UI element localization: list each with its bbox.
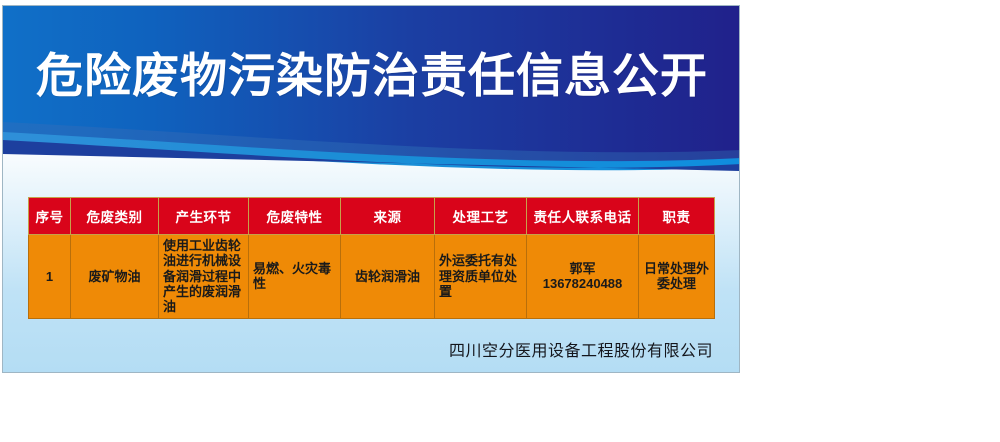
contact-person-name: 郭军 [531, 261, 634, 276]
column-header-source: 来源 [341, 198, 435, 235]
cell-duty: 日常处理外委处理 [639, 235, 715, 319]
company-name: 四川空分医用设备工程股份有限公司 [449, 337, 713, 361]
table-row: 1 废矿物油 使用工业齿轮油进行机械设备润滑过程中产生的废润滑油 易燃、火灾毒性… [29, 235, 715, 319]
column-header-process: 处理工艺 [435, 198, 527, 235]
hazardous-waste-table: 序号 危废类别 产生环节 危废特性 来源 处理工艺 责任人联系电话 职责 1 废… [28, 197, 715, 319]
column-header-contact: 责任人联系电话 [527, 198, 639, 235]
cell-contact: 郭军 13678240488 [527, 235, 639, 319]
cell-stage: 使用工业齿轮油进行机械设备润滑过程中产生的废润滑油 [159, 235, 249, 319]
column-header-index: 序号 [29, 198, 71, 235]
cell-process: 外运委托有处理资质单位处置 [435, 235, 527, 319]
table-header-row: 序号 危废类别 产生环节 危废特性 来源 处理工艺 责任人联系电话 职责 [29, 198, 715, 235]
cell-source: 齿轮润滑油 [341, 235, 435, 319]
cell-category: 废矿物油 [71, 235, 159, 319]
column-header-stage: 产生环节 [159, 198, 249, 235]
contact-phone-number: 13678240488 [531, 276, 634, 291]
column-header-category: 危废类别 [71, 198, 159, 235]
page-title: 危险废物污染防治责任信息公开 [3, 53, 740, 100]
banner-header: 危险废物污染防治责任信息公开 [3, 6, 740, 171]
column-header-property: 危废特性 [249, 198, 341, 235]
information-poster: 危险废物污染防治责任信息公开 序号 危废类别 产生环节 危废特性 来源 处理工艺… [2, 5, 740, 373]
cell-property: 易燃、火灾毒性 [249, 235, 341, 319]
column-header-duty: 职责 [639, 198, 715, 235]
cell-index: 1 [29, 235, 71, 319]
